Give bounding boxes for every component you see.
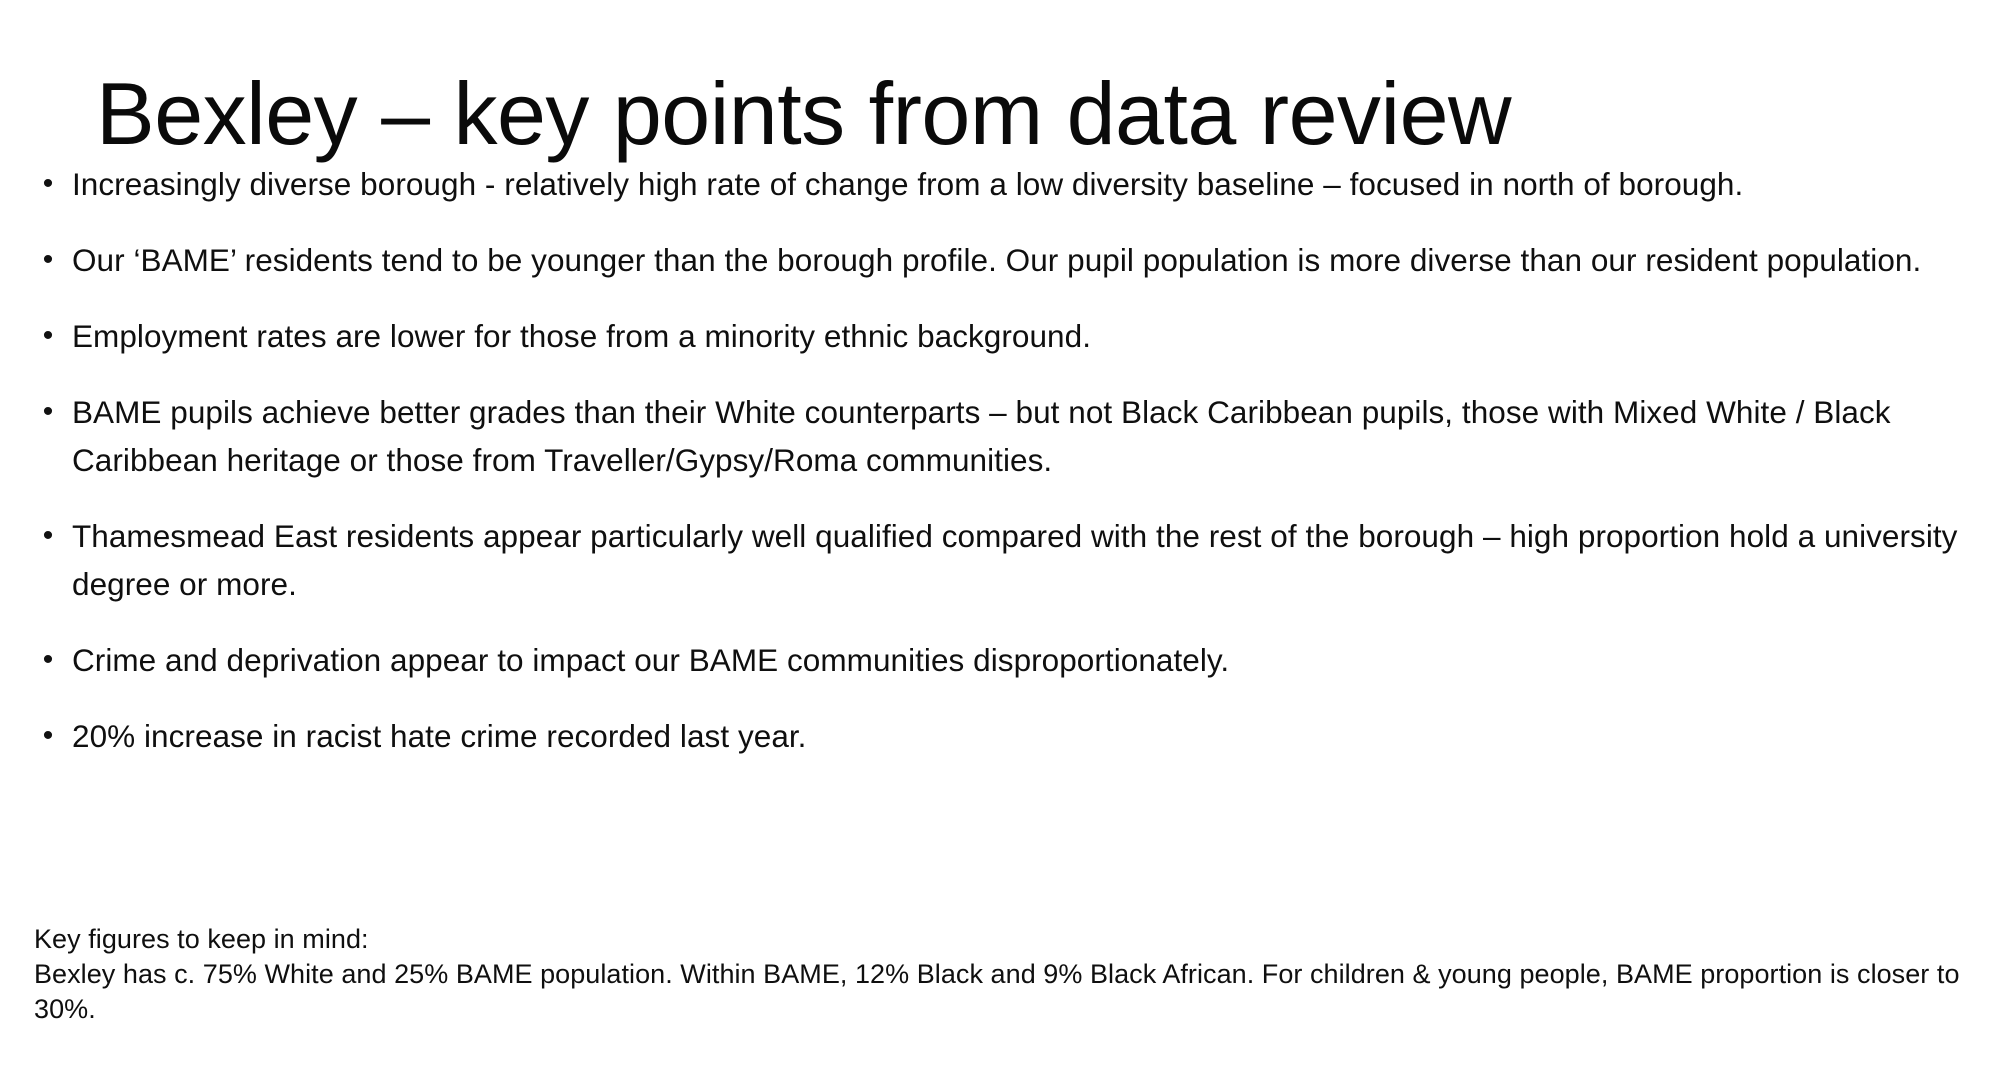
list-item: • Employment rates are lower for those f… (24, 312, 1984, 360)
presentation-slide: Bexley – key points from data review • I… (0, 0, 2000, 1070)
list-item-text: BAME pupils achieve better grades than t… (72, 388, 1984, 484)
list-item: • Our ‘BAME’ residents tend to be younge… (24, 236, 1984, 284)
key-figures-heading: Key figures to keep in mind: (34, 922, 1974, 957)
bullet-list: • Increasingly diverse borough - relativ… (24, 160, 1984, 788)
list-item: • BAME pupils achieve better grades than… (24, 388, 1984, 484)
list-item: • Crime and deprivation appear to impact… (24, 636, 1984, 684)
bullet-point-icon: • (24, 712, 72, 760)
bullet-point-icon: • (24, 236, 72, 284)
bullet-point-icon: • (24, 512, 72, 560)
list-item-text: Increasingly diverse borough - relativel… (72, 160, 1984, 208)
list-item-text: Crime and deprivation appear to impact o… (72, 636, 1984, 684)
key-figures-note: Key figures to keep in mind: Bexley has … (34, 922, 1974, 1027)
list-item-text: Employment rates are lower for those fro… (72, 312, 1984, 360)
list-item: • Thamesmead East residents appear parti… (24, 512, 1984, 608)
bullet-point-icon: • (24, 312, 72, 360)
bullet-point-icon: • (24, 388, 72, 436)
page-title: Bexley – key points from data review (96, 65, 1916, 164)
bullet-point-icon: • (24, 160, 72, 208)
bullet-point-icon: • (24, 636, 72, 684)
list-item-text: 20% increase in racist hate crime record… (72, 712, 1984, 760)
list-item-text: Thamesmead East residents appear particu… (72, 512, 1984, 608)
list-item: • Increasingly diverse borough - relativ… (24, 160, 1984, 208)
list-item: • 20% increase in racist hate crime reco… (24, 712, 1984, 760)
key-figures-body: Bexley has c. 75% White and 25% BAME pop… (34, 957, 1974, 1027)
list-item-text: Our ‘BAME’ residents tend to be younger … (72, 236, 1984, 284)
